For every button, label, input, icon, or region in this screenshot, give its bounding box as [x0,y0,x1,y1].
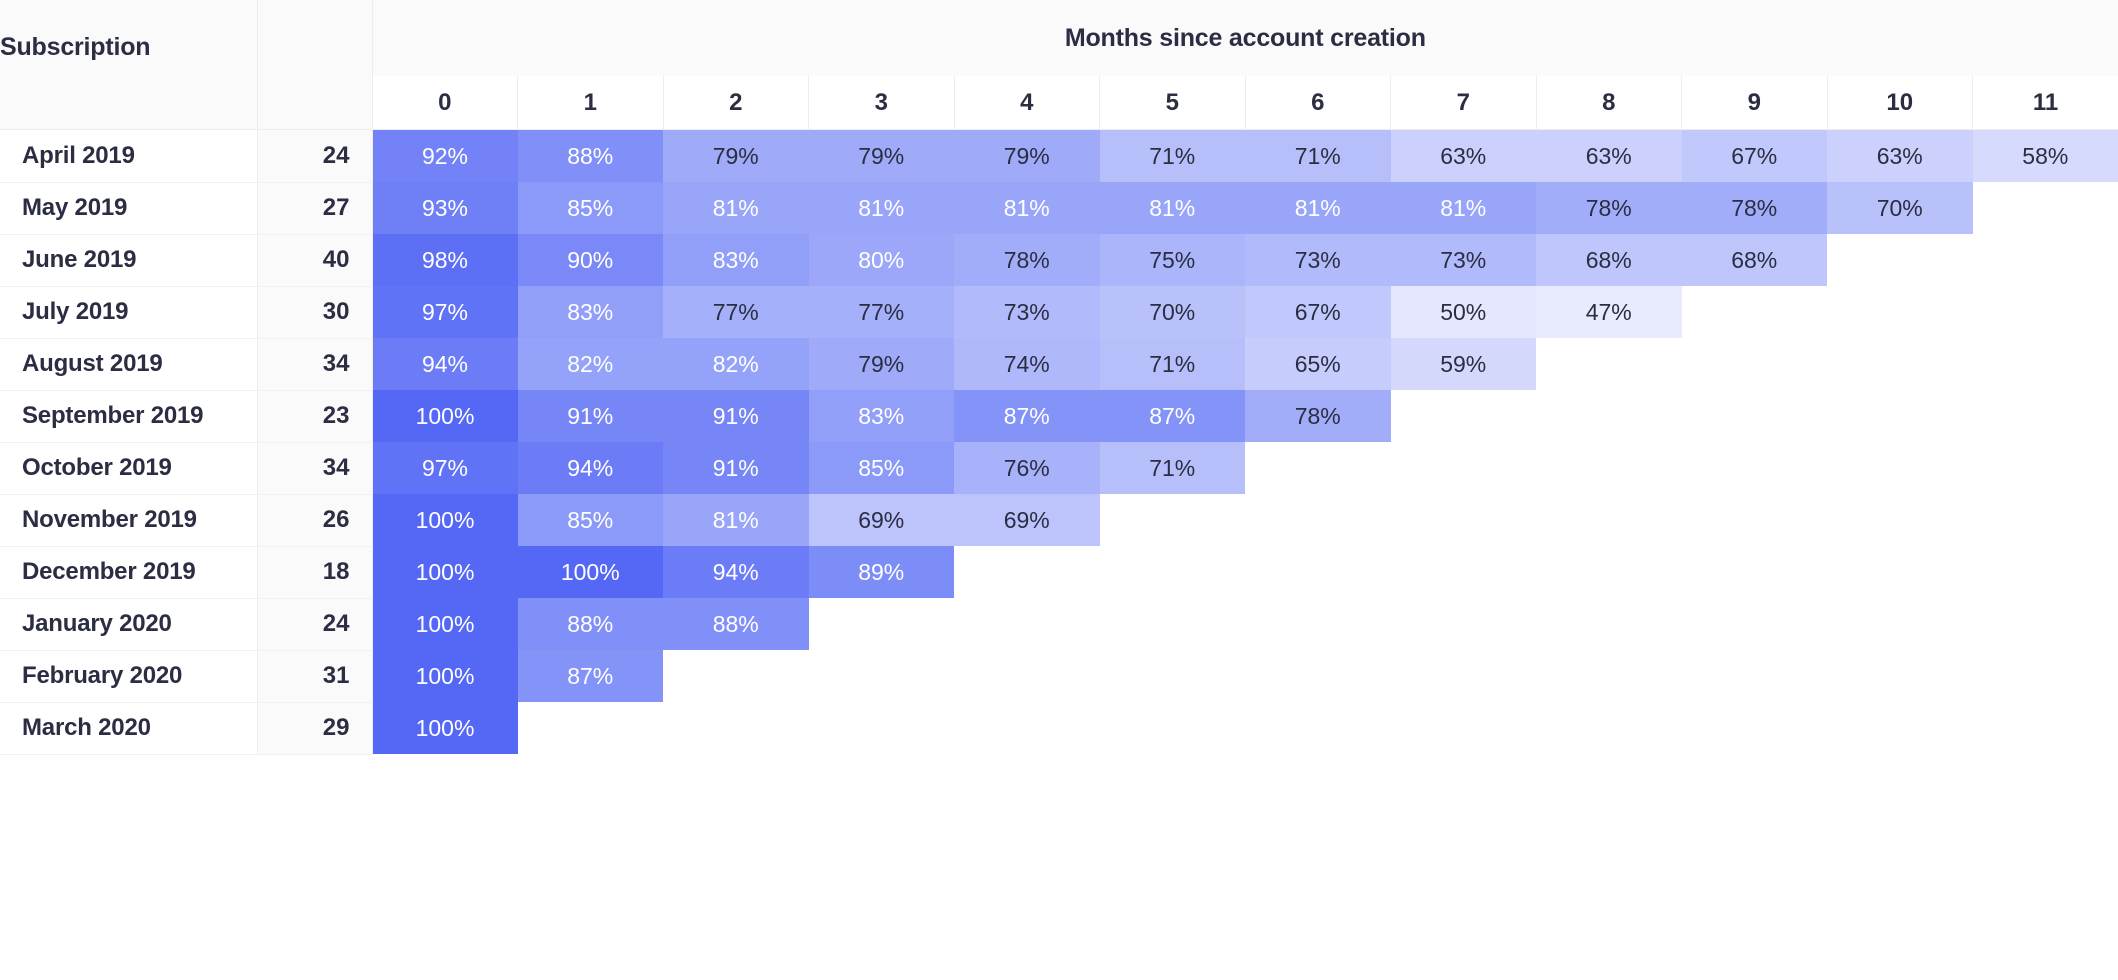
heat-cell[interactable]: 79% [809,338,955,390]
heat-cell[interactable]: 79% [954,130,1100,183]
heat-cell[interactable]: 71% [1245,130,1391,183]
heat-cell[interactable]: 58% [1973,130,2118,183]
heat-cell[interactable]: 91% [663,442,809,494]
heat-cell[interactable]: 81% [1100,182,1246,234]
cohort-label: May 2019 [0,182,257,234]
heat-cell-value: 81% [809,182,955,234]
table-row: July 20193097%83%77%77%73%70%67%50%47% [0,286,2118,338]
column-header-month-4[interactable]: 4 [954,76,1100,130]
heat-cell-value: 70% [1827,182,1973,234]
heat-cell[interactable]: 88% [518,130,664,183]
heat-cell[interactable]: 81% [663,182,809,234]
heat-cell-empty [1973,182,2118,234]
heat-cell-value: 85% [809,442,955,494]
heat-cell[interactable]: 81% [954,182,1100,234]
heat-cell-empty [1245,546,1391,598]
table-header: Subscription Months since account creati… [0,0,2118,130]
heat-cell-empty [1100,494,1246,546]
heat-cell[interactable]: 100% [518,546,664,598]
cohort-label: June 2019 [0,234,257,286]
heat-cell-value: 75% [1100,234,1246,286]
heat-cell[interactable]: 74% [954,338,1100,390]
heat-cell[interactable]: 81% [1391,182,1537,234]
heat-cell-value: 50% [1391,286,1537,338]
heat-cell-empty [1827,234,1973,286]
heat-cell-empty [1245,494,1391,546]
heat-cell-empty [1100,702,1246,754]
cohort-size: 31 [257,650,372,702]
cohort-size: 34 [257,338,372,390]
cohort-label: March 2020 [0,702,257,754]
heat-cell[interactable]: 63% [1391,130,1537,183]
heat-cell-empty [1827,598,1973,650]
heat-cell-empty [1682,546,1828,598]
heat-cell[interactable]: 73% [1391,234,1537,286]
table-row: March 202029100% [0,702,2118,754]
heat-cell-empty [1245,442,1391,494]
column-header-month-11[interactable]: 11 [1973,76,2118,130]
heat-cell[interactable]: 69% [809,494,955,546]
heat-cell[interactable]: 79% [809,130,955,183]
cohort-label: September 2019 [0,390,257,442]
table-row: September 201923100%91%91%83%87%87%78% [0,390,2118,442]
heat-cell-value: 77% [809,286,955,338]
heat-cell[interactable]: 90% [518,234,664,286]
heat-cell[interactable]: 47% [1536,286,1682,338]
heat-cell-empty [1973,442,2118,494]
table-row: October 20193497%94%91%85%76%71% [0,442,2118,494]
table-row: February 202031100%87% [0,650,2118,702]
months-axis-title: Months since account creation [372,0,2118,76]
header-month-number-row: 01234567891011 [0,76,2118,130]
heat-cell-value: 71% [1100,130,1246,182]
heat-cell-value: 71% [1100,442,1246,494]
heat-cell-value: 68% [1682,234,1828,286]
heat-cell-value: 88% [518,130,664,182]
heat-cell-empty [663,702,809,754]
table-row: November 201926100%85%81%69%69% [0,494,2118,546]
heat-cell-empty [1973,338,2118,390]
heat-cell-empty [1682,650,1828,702]
heat-cell[interactable]: 83% [809,390,955,442]
heat-cell-empty [1100,546,1246,598]
heat-cell-empty [1827,546,1973,598]
heat-cell-value: 91% [663,442,809,494]
cohort-size: 24 [257,130,372,183]
heat-cell-empty [663,650,809,702]
heat-cell[interactable]: 73% [1245,234,1391,286]
header-title-row: Subscription Months since account creati… [0,0,2118,76]
cohort-size: 24 [257,598,372,650]
heat-cell-empty [1682,494,1828,546]
heat-cell[interactable]: 100% [372,650,518,702]
column-header-month-2[interactable]: 2 [663,76,809,130]
heat-cell[interactable]: 67% [1682,130,1828,183]
heat-cell-value: 85% [518,494,664,546]
heat-cell-value: 97% [373,286,518,338]
heat-cell-empty [1245,598,1391,650]
heat-cell[interactable]: 88% [518,598,664,650]
heat-cell[interactable]: 63% [1827,130,1973,183]
heat-cell[interactable]: 94% [518,442,664,494]
heat-cell-empty [1973,286,2118,338]
heat-cell[interactable]: 59% [1391,338,1537,390]
heat-cell-empty [1973,598,2118,650]
heat-cell-value: 81% [1391,182,1537,234]
table-body: April 20192492%88%79%79%79%71%71%63%63%6… [0,130,2118,755]
table-row: April 20192492%88%79%79%79%71%71%63%63%6… [0,130,2118,183]
heat-cell-value: 76% [954,442,1100,494]
heat-cell[interactable]: 70% [1827,182,1973,234]
cohort-size: 26 [257,494,372,546]
heat-cell[interactable]: 91% [518,390,664,442]
heat-cell-value: 91% [518,390,664,442]
column-header-month-7[interactable]: 7 [1391,76,1537,130]
heat-cell-value: 71% [1245,130,1391,182]
column-header-month-8[interactable]: 8 [1536,76,1682,130]
heat-cell-value: 88% [663,598,809,650]
count-header-label [257,0,372,76]
cohort-size: 29 [257,702,372,754]
heat-cell-value: 98% [373,234,518,286]
heat-cell-value: 100% [373,546,518,598]
table-row: August 20193494%82%82%79%74%71%65%59% [0,338,2118,390]
heat-cell-value: 67% [1682,130,1828,182]
heat-cell-value: 82% [518,338,664,390]
heat-cell[interactable]: 89% [809,546,955,598]
corner-blank-label [0,76,257,130]
heat-cell[interactable]: 83% [518,286,664,338]
heat-cell-empty [1827,650,1973,702]
heat-cell[interactable]: 71% [1100,338,1246,390]
heat-cell[interactable]: 81% [663,494,809,546]
heat-cell-empty [1536,442,1682,494]
cohort-label: February 2020 [0,650,257,702]
heat-cell[interactable]: 68% [1536,234,1682,286]
cohort-label: November 2019 [0,494,257,546]
heat-cell[interactable]: 78% [1536,182,1682,234]
column-header-month-0[interactable]: 0 [372,76,518,130]
heat-cell-empty [1391,546,1537,598]
table-row: January 202024100%88%88% [0,598,2118,650]
heat-cell-empty [954,650,1100,702]
heat-cell-empty [954,702,1100,754]
heat-cell-empty [1973,546,2118,598]
cohort-size: 27 [257,182,372,234]
heat-cell-value: 83% [518,286,664,338]
heat-cell-value: 58% [1973,130,2118,182]
heat-cell-empty [809,702,955,754]
heat-cell[interactable]: 82% [518,338,664,390]
heat-cell-empty [1682,598,1828,650]
heat-cell-value: 82% [663,338,809,390]
heat-cell-value: 87% [518,650,664,702]
heat-cell-value: 79% [954,130,1100,182]
heat-cell-empty [1682,286,1828,338]
heat-cell-empty [1536,702,1682,754]
heat-cell-empty [1827,338,1973,390]
heat-cell-empty [1827,390,1973,442]
heat-cell-empty [809,598,955,650]
corner-blank-count [257,76,372,130]
heat-cell[interactable]: 97% [372,442,518,494]
heat-cell-empty [1391,494,1537,546]
heat-cell-empty [1973,390,2118,442]
heat-cell-value: 63% [1536,130,1682,182]
heat-cell[interactable]: 65% [1245,338,1391,390]
heat-cell[interactable]: 73% [954,286,1100,338]
heat-cell[interactable]: 85% [518,494,664,546]
heat-cell-value: 89% [809,546,955,598]
cohort-table: Subscription Months since account creati… [0,0,2118,755]
heat-cell[interactable]: 87% [954,390,1100,442]
heat-cell-value: 94% [518,442,664,494]
heat-cell[interactable]: 83% [663,234,809,286]
heat-cell-value: 78% [1536,182,1682,234]
heat-cell-empty [1682,702,1828,754]
heat-cell-value: 87% [1100,390,1246,442]
heat-cell-empty [1827,286,1973,338]
heat-cell-value: 97% [373,442,518,494]
column-header-month-3[interactable]: 3 [809,76,955,130]
heat-cell-value: 81% [954,182,1100,234]
heat-cell-value: 91% [663,390,809,442]
heat-cell-value: 73% [954,286,1100,338]
column-header-month-9[interactable]: 9 [1682,76,1828,130]
table-row: June 20194098%90%83%80%78%75%73%73%68%68… [0,234,2118,286]
heat-cell[interactable]: 63% [1536,130,1682,183]
cohort-size: 40 [257,234,372,286]
heat-cell-value: 94% [373,338,518,390]
heat-cell-value: 68% [1536,234,1682,286]
heat-cell-value: 83% [809,390,955,442]
heat-cell[interactable]: 71% [1100,442,1246,494]
heat-cell-empty [1245,650,1391,702]
heat-cell[interactable]: 82% [663,338,809,390]
heat-cell[interactable]: 87% [1100,390,1246,442]
column-header-month-5[interactable]: 5 [1100,76,1246,130]
heat-cell[interactable]: 85% [809,442,955,494]
heat-cell[interactable]: 70% [1100,286,1246,338]
heat-cell[interactable]: 100% [372,494,518,546]
heat-cell[interactable]: 78% [1682,182,1828,234]
heat-cell-empty [1536,338,1682,390]
heat-cell-value: 90% [518,234,664,286]
heat-cell-value: 79% [663,130,809,182]
heat-cell-value: 71% [1100,338,1246,390]
heat-cell-value: 79% [809,130,955,182]
heat-cell-value: 81% [1100,182,1246,234]
cohort-label: January 2020 [0,598,257,650]
heat-cell[interactable]: 80% [809,234,955,286]
heat-cell[interactable]: 77% [809,286,955,338]
heat-cell[interactable]: 79% [663,130,809,183]
cohort-label: April 2019 [0,130,257,183]
heat-cell-empty [954,598,1100,650]
heat-cell-empty [1536,390,1682,442]
heat-cell-value: 70% [1100,286,1246,338]
heat-cell[interactable]: 76% [954,442,1100,494]
column-header-month-1[interactable]: 1 [518,76,664,130]
heat-cell[interactable]: 81% [1245,182,1391,234]
heat-cell[interactable]: 97% [372,286,518,338]
heat-cell-empty [1391,598,1537,650]
cohort-size: 23 [257,390,372,442]
heat-cell-value: 78% [954,234,1100,286]
heat-cell-empty [1682,442,1828,494]
column-header-month-6[interactable]: 6 [1245,76,1391,130]
heat-cell-empty [1391,390,1537,442]
heat-cell-value: 80% [809,234,955,286]
cohort-label: August 2019 [0,338,257,390]
heat-cell[interactable]: 94% [663,546,809,598]
heat-cell-empty [1536,546,1682,598]
heat-cell-value: 100% [518,546,664,598]
heat-cell-empty [1536,598,1682,650]
heat-cell-value: 87% [954,390,1100,442]
heat-cell-value: 63% [1391,130,1537,182]
heat-cell-empty [1100,650,1246,702]
heat-cell[interactable]: 67% [1245,286,1391,338]
heat-cell[interactable]: 71% [1100,130,1246,183]
cohort-retention-heatmap: Subscription Months since account creati… [0,0,2118,980]
heat-cell-value: 93% [373,182,518,234]
heat-cell-value: 81% [1245,182,1391,234]
heat-cell-empty [1973,234,2118,286]
heat-cell[interactable]: 75% [1100,234,1246,286]
heat-cell-value: 100% [373,702,518,754]
heat-cell-value: 100% [373,598,518,650]
heat-cell[interactable]: 81% [809,182,955,234]
heat-cell-value: 67% [1245,286,1391,338]
heat-cell[interactable]: 92% [372,130,518,183]
heat-cell[interactable]: 77% [663,286,809,338]
heat-cell[interactable]: 68% [1682,234,1828,286]
heat-cell[interactable]: 50% [1391,286,1537,338]
heat-cell-value: 77% [663,286,809,338]
heat-cell-value: 94% [663,546,809,598]
heat-cell-empty [1245,702,1391,754]
heat-cell[interactable]: 88% [663,598,809,650]
heat-cell-empty [1536,494,1682,546]
heat-cell-empty [1536,650,1682,702]
cohort-label: December 2019 [0,546,257,598]
heat-cell-empty [1682,390,1828,442]
heat-cell-value: 69% [954,494,1100,546]
heat-cell-value: 100% [373,650,518,702]
heat-cell-value: 78% [1682,182,1828,234]
heat-cell[interactable]: 100% [372,702,518,754]
heat-cell-value: 85% [518,182,664,234]
table-row: May 20192793%85%81%81%81%81%81%81%78%78%… [0,182,2118,234]
cohort-size: 34 [257,442,372,494]
heat-cell[interactable]: 98% [372,234,518,286]
heat-cell-value: 74% [954,338,1100,390]
heat-cell-empty [1682,338,1828,390]
heat-cell[interactable]: 94% [372,338,518,390]
heat-cell-empty [1973,702,2118,754]
heat-cell-value: 81% [663,182,809,234]
cohort-label: October 2019 [0,442,257,494]
heat-cell-value: 100% [373,390,518,442]
heat-cell-value: 81% [663,494,809,546]
heat-cell[interactable]: 87% [518,650,664,702]
heat-cell-value: 63% [1827,130,1973,182]
heat-cell[interactable]: 100% [372,546,518,598]
heat-cell-empty [1100,598,1246,650]
heat-cell-value: 47% [1536,286,1682,338]
cohort-size: 18 [257,546,372,598]
heat-cell-empty [1391,702,1537,754]
heat-cell-value: 79% [809,338,955,390]
heat-cell[interactable]: 78% [1245,390,1391,442]
heat-cell-empty [809,650,955,702]
heat-cell-value: 65% [1245,338,1391,390]
heat-cell[interactable]: 93% [372,182,518,234]
heat-cell-value: 73% [1245,234,1391,286]
heat-cell[interactable]: 85% [518,182,664,234]
heat-cell-value: 59% [1391,338,1537,390]
heat-cell-empty [1827,702,1973,754]
heat-cell[interactable]: 100% [372,598,518,650]
cohort-label: July 2019 [0,286,257,338]
heat-cell-empty [1973,650,2118,702]
heat-cell-empty [1827,494,1973,546]
heat-cell-value: 88% [518,598,664,650]
heat-cell-empty [1827,442,1973,494]
heat-cell-empty [1391,650,1537,702]
heat-cell[interactable]: 69% [954,494,1100,546]
heat-cell-value: 92% [373,130,518,182]
heat-cell-empty [954,546,1100,598]
heat-cell-value: 78% [1245,390,1391,442]
row-header-label: Subscription [0,0,257,76]
cohort-size: 30 [257,286,372,338]
heat-cell-value: 83% [663,234,809,286]
table-row: December 201918100%100%94%89% [0,546,2118,598]
heat-cell-value: 69% [809,494,955,546]
heat-cell-empty [518,702,664,754]
heat-cell-empty [1973,494,2118,546]
heat-cell[interactable]: 78% [954,234,1100,286]
heat-cell[interactable]: 91% [663,390,809,442]
heat-cell-value: 73% [1391,234,1537,286]
heat-cell-empty [1391,442,1537,494]
heat-cell-value: 100% [373,494,518,546]
heat-cell[interactable]: 100% [372,390,518,442]
column-header-month-10[interactable]: 10 [1827,76,1973,130]
